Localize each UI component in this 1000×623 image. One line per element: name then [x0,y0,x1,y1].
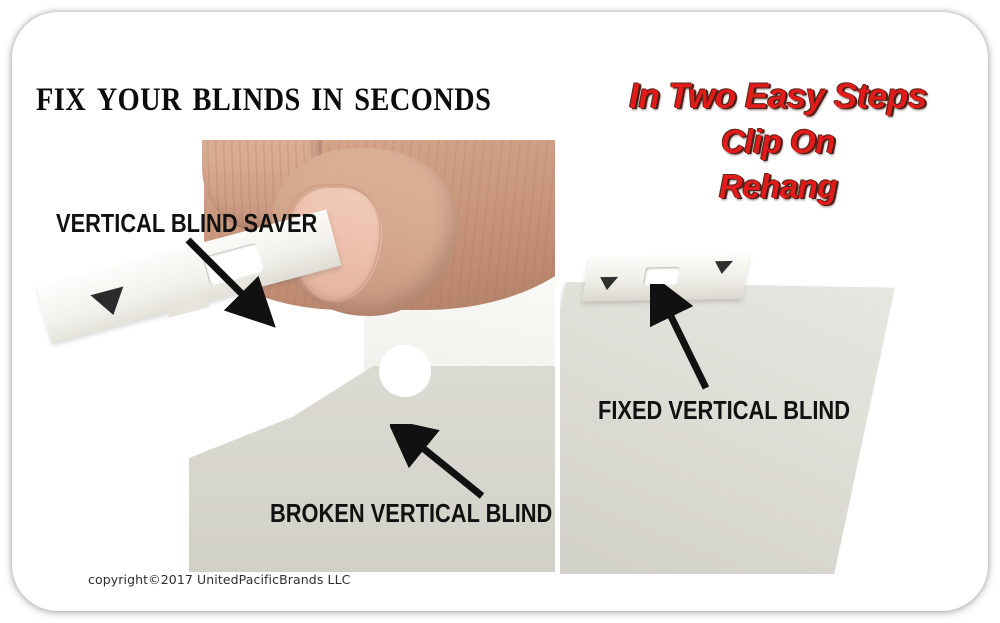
copyright-notice: copyright©2017 UnitedPacificBrands LLC [88,572,350,587]
label-vertical-blind-saver: VERTICAL BLIND SAVER [56,208,317,239]
broken-blind-torn-hole [379,345,431,397]
arrow-to-saver-icon [182,234,302,344]
label-fixed-vertical-blind: FIXED VERTICAL BLIND [598,395,850,426]
steps-callout: In Two Easy Steps Clip On Rehang [578,74,978,209]
clip-triangle-notch-icon [713,261,733,274]
clip-slot [643,267,680,286]
broken-blind-slat [189,366,555,572]
product-infographic-card: Fix your blinds in seconds In Two Easy S… [12,12,988,611]
clip-triangle-notch-icon [90,286,129,319]
step-headline: In Two Easy Steps [578,74,978,119]
page-title: Fix your blinds in seconds [36,70,518,122]
arrow-to-installed-clip-icon [650,284,730,402]
step-one-label: Clip On [578,119,978,164]
clip-triangle-notch-icon [598,277,618,290]
step-two-label: Rehang [578,164,978,209]
label-broken-vertical-blind: BROKEN VERTICAL BLIND [270,498,552,529]
